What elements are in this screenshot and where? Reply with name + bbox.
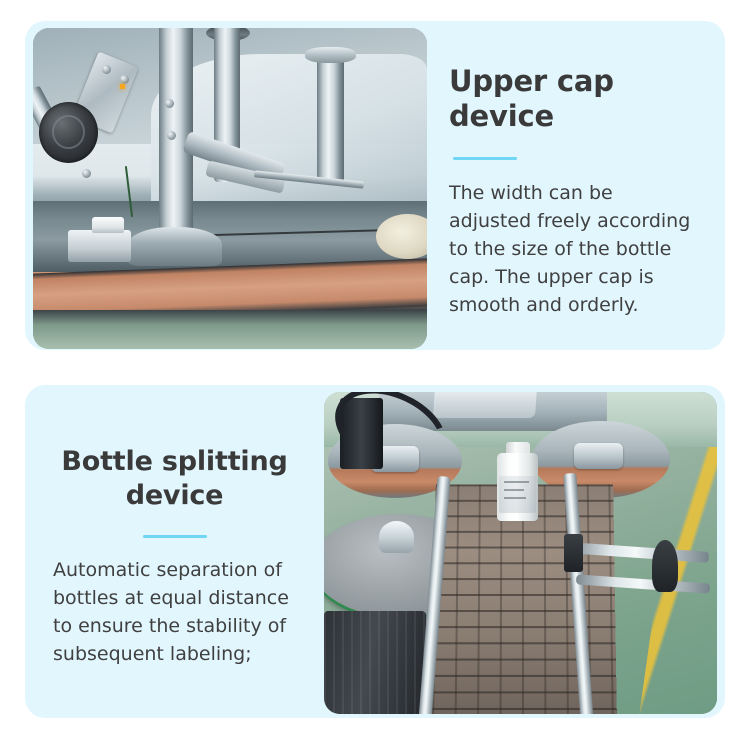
sensor-box <box>68 230 131 262</box>
bottle-splitting-device-text-panel: Bottle splitting device Automatic separa… <box>25 385 324 718</box>
machine-top-bracket <box>433 392 537 418</box>
indicator-led <box>120 84 125 89</box>
bolt <box>120 75 129 84</box>
upper-cap-device-photo <box>33 28 427 349</box>
card-heading-upper-cap-device: Upper cap device <box>449 64 695 134</box>
machine-floor <box>33 310 427 349</box>
rail-clamp <box>564 534 584 573</box>
label-text-line <box>504 481 529 483</box>
post-base-collar <box>128 227 223 266</box>
adjustment-knob <box>39 102 98 163</box>
post-flange-right <box>305 47 356 63</box>
drive-motor <box>324 611 426 714</box>
label-text-line <box>504 489 524 491</box>
feature-cards-page: Upper cap device The width can be adjust… <box>0 0 750 742</box>
upper-cap-device-text-panel: Upper cap device The width can be adjust… <box>427 21 725 350</box>
steel-post-right <box>317 54 345 182</box>
heading-divider <box>143 535 207 538</box>
feature-card-upper-cap-device: Upper cap device The width can be adjust… <box>25 21 725 350</box>
card-body-upper-cap-device: The width can be adjusted freely accordi… <box>449 179 695 320</box>
motor-fins <box>324 611 426 714</box>
card-heading-bottle-splitting-device: Bottle splitting device <box>53 445 296 513</box>
label-text-line <box>504 497 527 499</box>
bottle-splitting-device-photo <box>324 392 717 714</box>
turntable-hub <box>574 443 624 469</box>
feature-card-bottle-splitting-device: Bottle splitting device Automatic separa… <box>25 385 725 718</box>
bolt <box>165 99 174 108</box>
bolt <box>167 131 176 140</box>
card-body-bottle-splitting-device: Automatic separation of bottles at equal… <box>53 556 296 668</box>
bottle-label <box>499 476 535 513</box>
rotary-plate-nut <box>379 521 414 553</box>
white-bottle-cap <box>92 217 124 233</box>
heading-divider <box>453 157 517 160</box>
rail-clamp-knob <box>652 540 678 592</box>
bolt <box>102 65 111 74</box>
white-bottle <box>497 453 538 521</box>
